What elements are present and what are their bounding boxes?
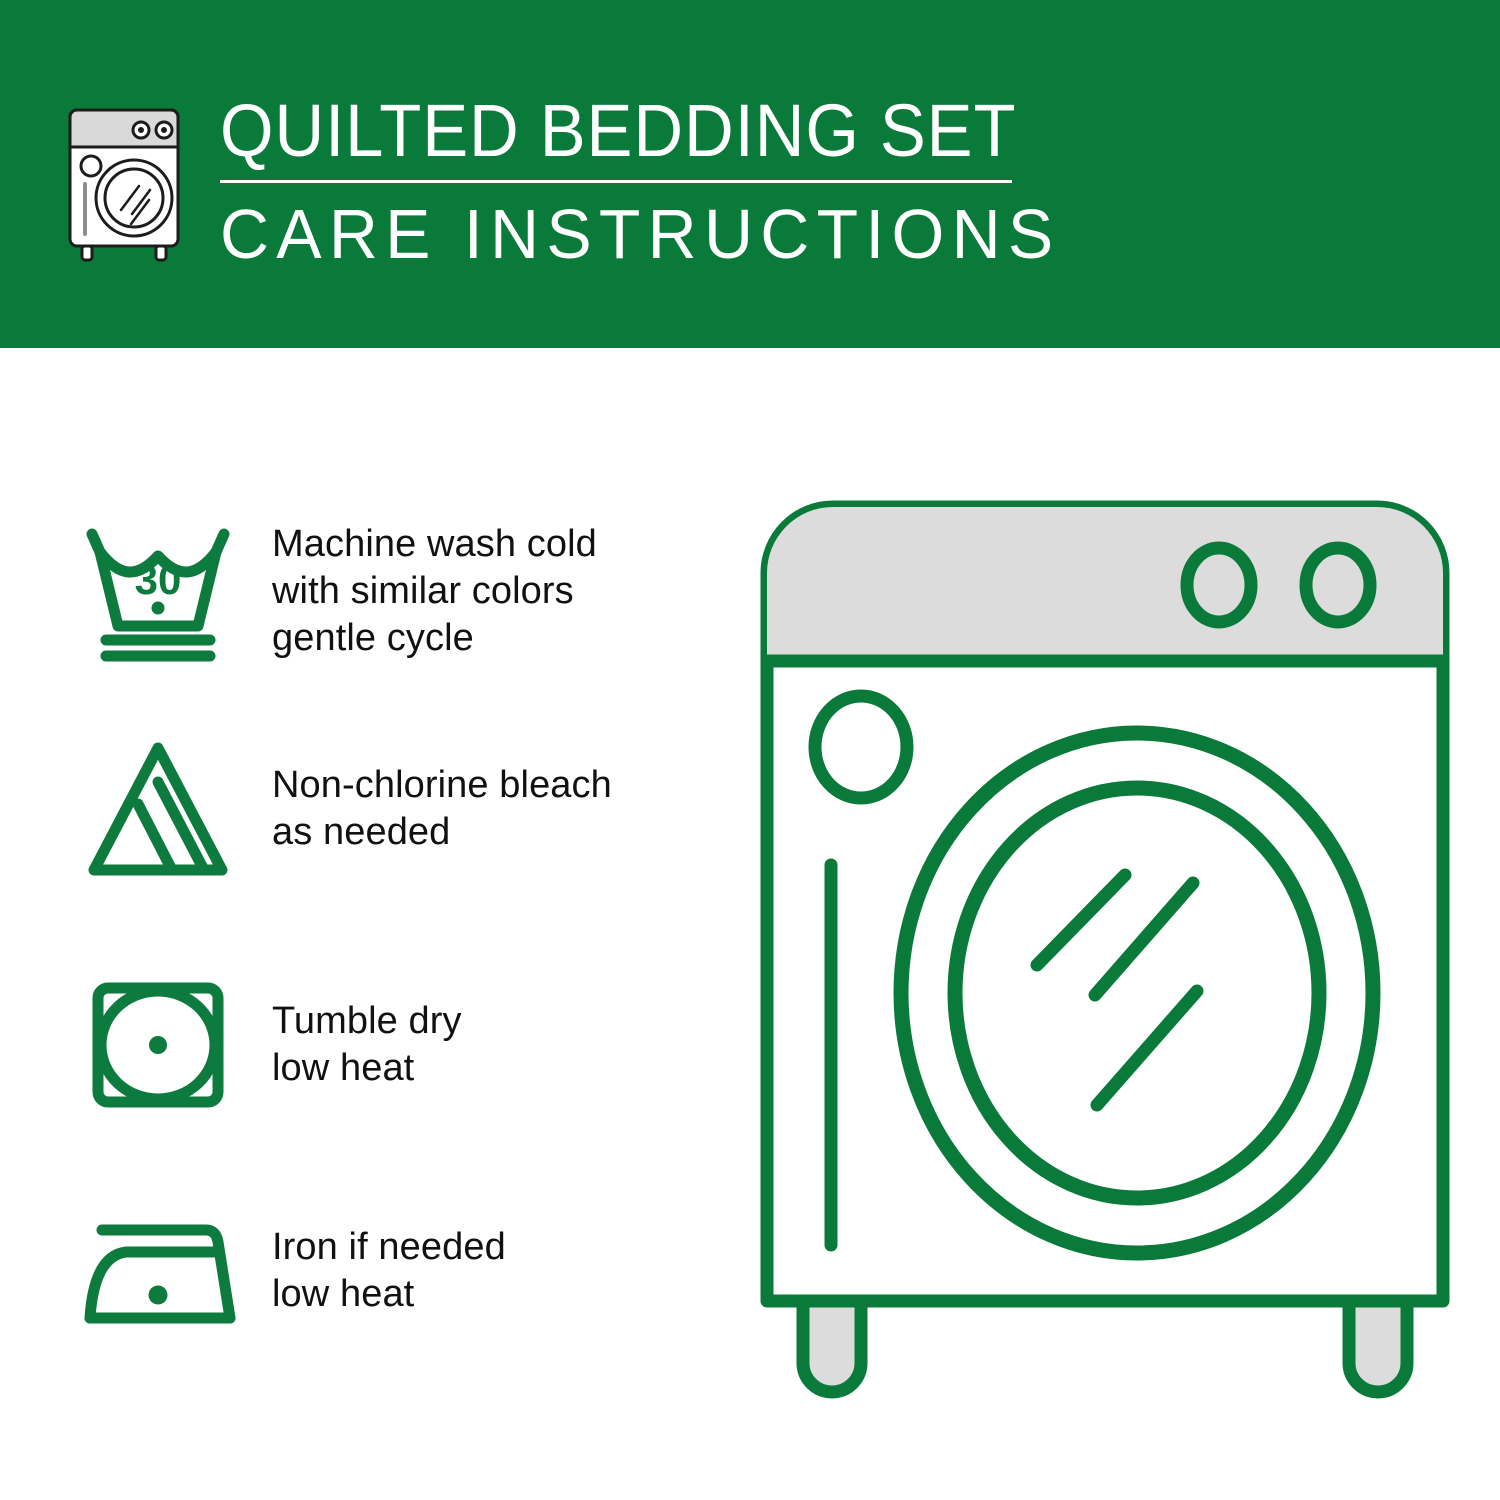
wash-tub-30-gentle-icon: 30 [72, 516, 244, 666]
care-instructions-page: QUILTED BEDDING SET CARE INSTRUCTIONS 30 [0, 0, 1500, 1500]
header-band: QUILTED BEDDING SET CARE INSTRUCTIONS [0, 0, 1500, 348]
care-label-tumble-dry: Tumble dry low heat [272, 998, 462, 1092]
page-subtitle: CARE INSTRUCTIONS [220, 197, 1035, 271]
care-row-iron: Iron if needed low heat [72, 1196, 712, 1346]
care-instruction-list: 30 Machine wash cold with similar colors… [0, 348, 740, 1500]
front-load-washing-machine-illustration [745, 485, 1465, 1435]
care-label-bleach: Non-chlorine bleach as needed [272, 762, 612, 856]
non-chlorine-bleach-triangle-icon [72, 734, 244, 884]
care-label-iron: Iron if needed low heat [272, 1224, 506, 1318]
door-inner-ring [955, 788, 1319, 1198]
page-title: QUILTED BEDDING SET [220, 92, 1001, 170]
dial-left [1187, 548, 1251, 622]
wash-temperature-value: 30 [135, 556, 182, 603]
care-label-machine-wash: Machine wash cold with similar colors ge… [272, 521, 597, 662]
header-text-block: QUILTED BEDDING SET CARE INSTRUCTIONS [220, 92, 1060, 271]
dial-right [1306, 548, 1370, 622]
washing-machine-logo-icon [62, 100, 192, 265]
care-row-machine-wash: 30 Machine wash cold with similar colors… [72, 516, 712, 666]
detergent-knob [815, 696, 907, 798]
tumble-dry-low-icon [72, 970, 244, 1120]
header-inner: QUILTED BEDDING SET CARE INSTRUCTIONS [62, 92, 1062, 282]
title-divider [220, 180, 1012, 183]
care-row-tumble-dry: Tumble dry low heat [72, 970, 712, 1120]
care-row-bleach: Non-chlorine bleach as needed [72, 734, 712, 884]
iron-low-heat-icon [72, 1196, 244, 1346]
